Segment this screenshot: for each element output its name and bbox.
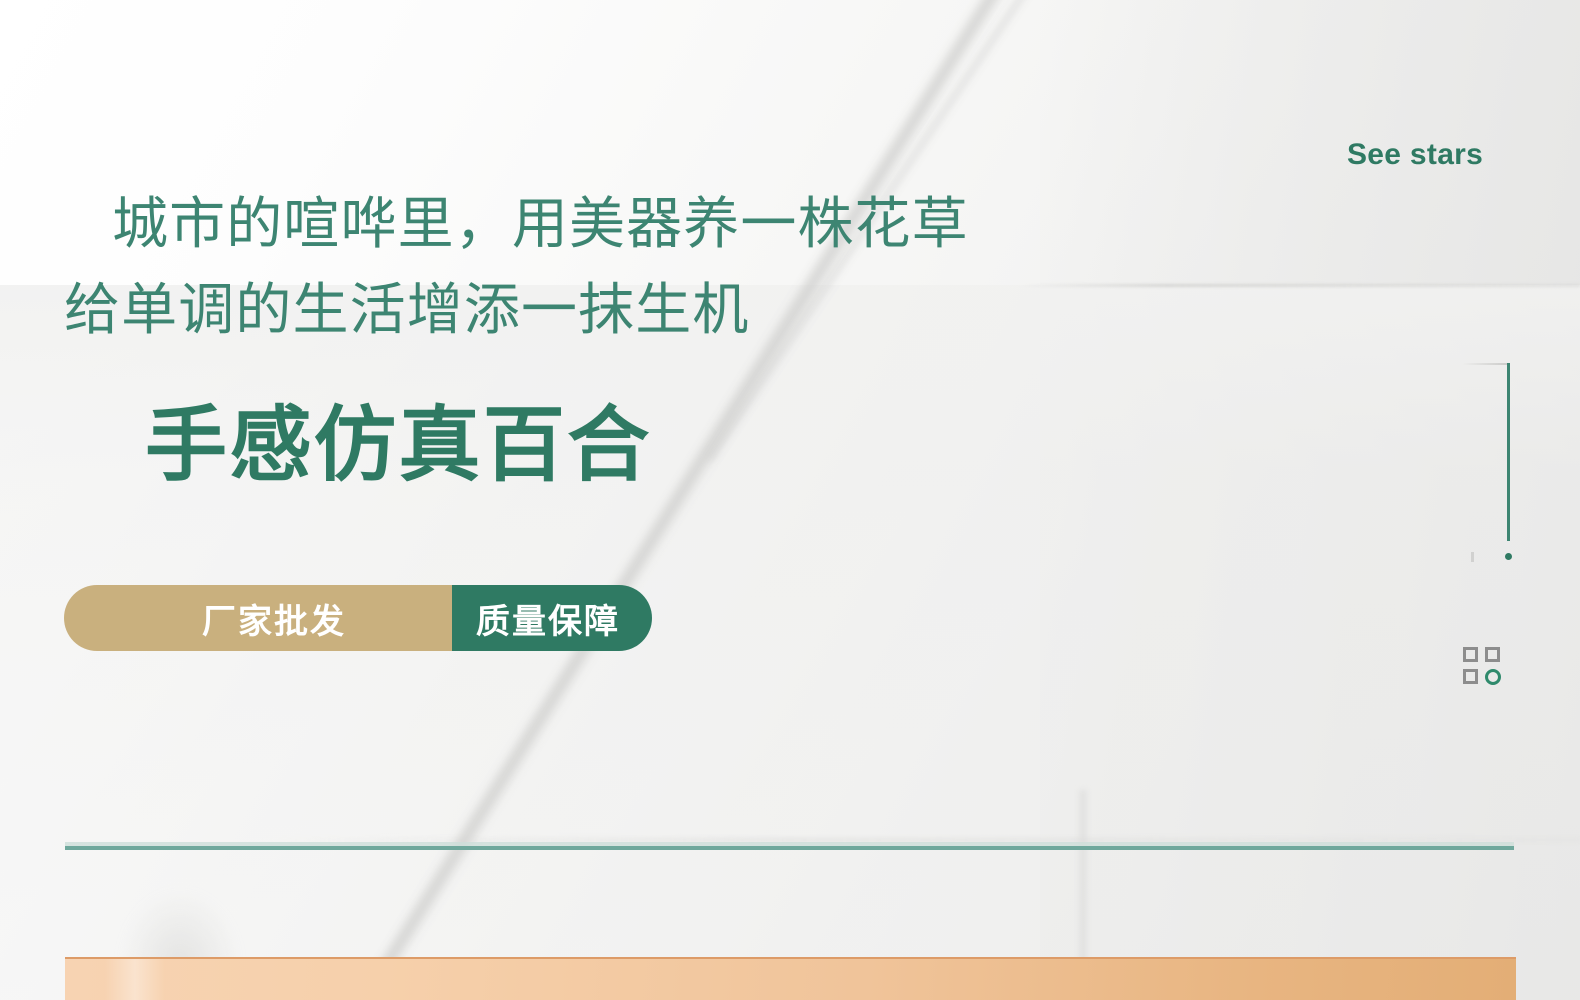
tick-horizontal-icon bbox=[1462, 363, 1510, 365]
tick-ghost-icon bbox=[1471, 552, 1474, 562]
subtitle-line-2: 给单调的生活增添一抹生机 bbox=[64, 278, 749, 342]
badge-row: 厂家批发 质量保障 bbox=[64, 585, 652, 651]
vertical-rule-icon bbox=[1507, 363, 1510, 541]
background-edge-horizontal bbox=[1020, 284, 1580, 287]
badge-factory-wholesale[interactable]: 厂家批发 bbox=[64, 585, 452, 651]
grid-circle-bottom-right bbox=[1485, 669, 1501, 685]
grid-icon[interactable] bbox=[1463, 647, 1503, 687]
orange-band bbox=[65, 957, 1516, 1000]
dot-icon bbox=[1505, 553, 1512, 560]
see-stars-label: See stars bbox=[1347, 138, 1483, 172]
divider-teal bbox=[65, 846, 1514, 850]
page-title: 手感仿真百合 bbox=[145, 398, 652, 494]
banner-stage: See stars 城市的喧哗里，用美器养一株花草 给单调的生活增添一抹生机 手… bbox=[0, 0, 1580, 1000]
grid-square-top-left bbox=[1463, 647, 1478, 662]
subtitle-line-1: 城市的喧哗里，用美器养一株花草 bbox=[112, 192, 969, 256]
badge-quality-guarantee[interactable]: 质量保障 bbox=[452, 585, 652, 651]
background-panel-right bbox=[1040, 0, 1580, 1000]
background-diagonal-crease bbox=[98, 0, 1118, 1000]
grid-square-top-right bbox=[1485, 647, 1500, 662]
grid-square-bottom-left bbox=[1463, 669, 1478, 684]
orange-band-highlight bbox=[105, 959, 165, 1000]
